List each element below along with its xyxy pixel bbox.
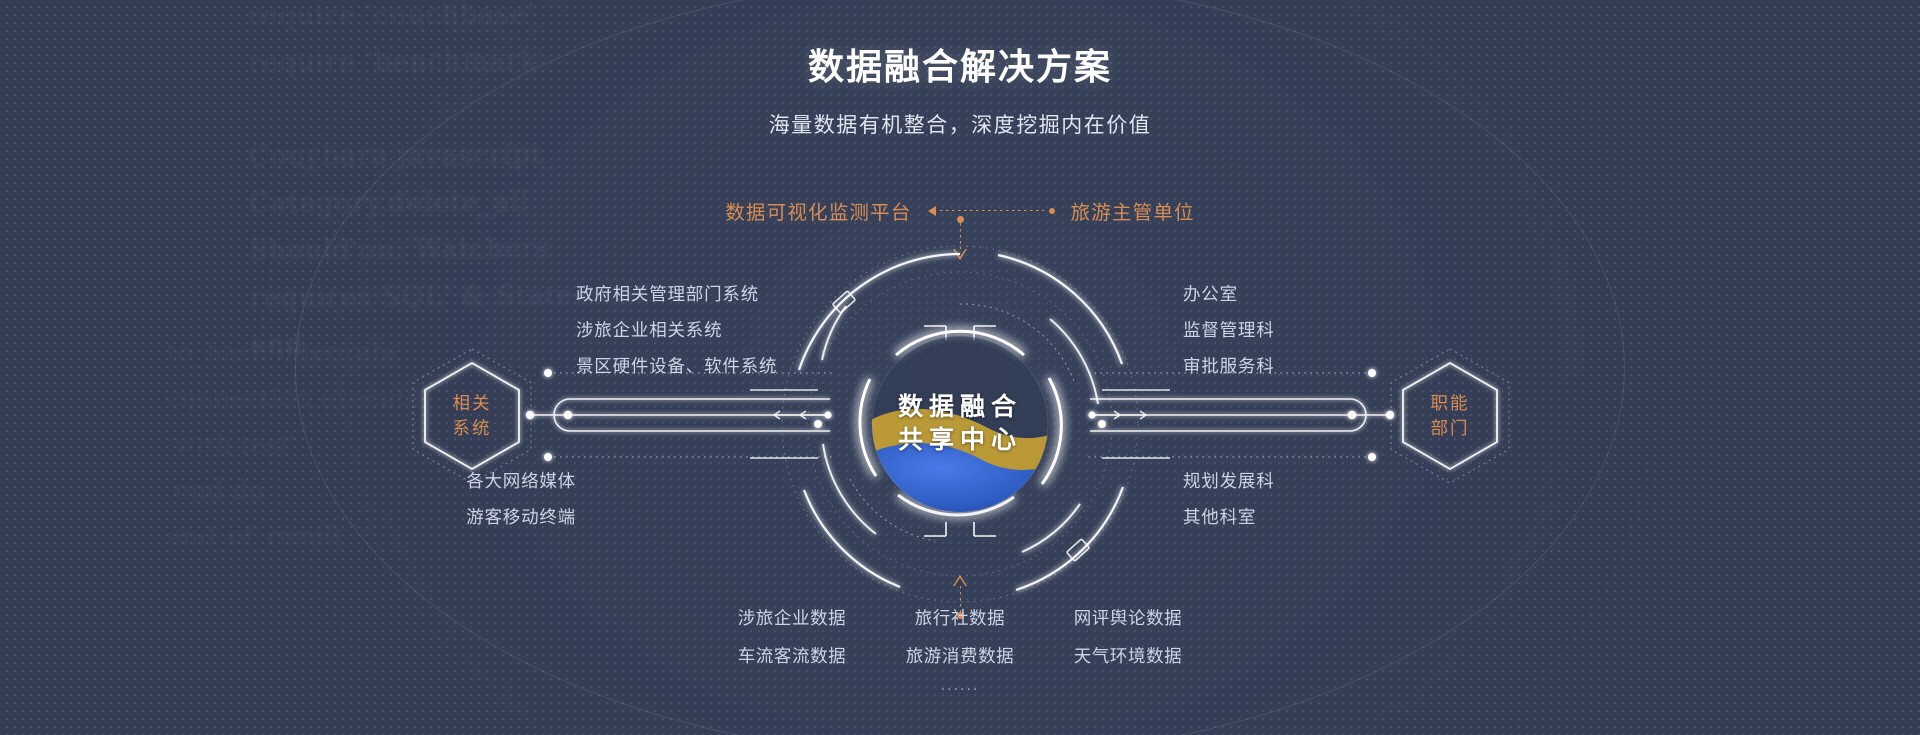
department-item: 其他科室 bbox=[1183, 499, 1275, 535]
right-top-department-list: 办公室监督管理科审批服务科 bbox=[1183, 276, 1275, 384]
headings: 数据融合解决方案 海量数据有机整合，深度挖掘内在价值 bbox=[0, 0, 1920, 139]
center-hub-graphic: 数据融合 共享中心 bbox=[750, 214, 1170, 634]
hexagon-right-text: 职能 部门 bbox=[1386, 346, 1514, 486]
center-line1: 数据融合 bbox=[898, 391, 1022, 424]
page-title: 数据融合解决方案 bbox=[0, 38, 1920, 90]
department-item: 审批服务科 bbox=[1183, 348, 1275, 384]
endpoint-dot-icon bbox=[1049, 208, 1055, 214]
bottom-ellipsis: ...... bbox=[941, 677, 980, 695]
data-category-item: 旅游消费数据 bbox=[886, 641, 1034, 671]
page-subtitle: 海量数据有机整合，深度挖掘内在价值 bbox=[0, 109, 1920, 139]
center-line2: 共享中心 bbox=[898, 424, 1022, 457]
hexagon-left-line1: 相关 bbox=[453, 391, 492, 416]
hexagon-left-line2: 系统 bbox=[453, 416, 492, 441]
center-hub-text: 数据融合 共享中心 bbox=[898, 391, 1022, 457]
source-system-item: 各大网络媒体 bbox=[466, 463, 576, 499]
hexagon-right-line2: 部门 bbox=[1431, 416, 1470, 441]
source-system-item: 游客移动终端 bbox=[466, 499, 576, 535]
data-category-item: 网评舆论数据 bbox=[1054, 603, 1202, 633]
right-bottom-department-list: 规划发展科其他科室 bbox=[1183, 463, 1275, 535]
hexagon-functional-departments[interactable]: 职能 部门 bbox=[1386, 346, 1514, 486]
department-item: 办公室 bbox=[1183, 276, 1275, 312]
data-category-item: 车流客流数据 bbox=[718, 641, 866, 671]
department-item: 规划发展科 bbox=[1183, 463, 1275, 499]
dotted-line bbox=[940, 210, 1044, 211]
data-category-item: 旅行社数据 bbox=[886, 603, 1034, 633]
left-bottom-source-list: 各大网络媒体游客移动终端 bbox=[576, 463, 686, 535]
data-category-item: 天气环境数据 bbox=[1054, 641, 1202, 671]
bottom-data-grid: 涉旅企业数据旅行社数据网评舆论数据车流客流数据旅游消费数据天气环境数据 bbox=[718, 603, 1202, 671]
hero-banner: require 'couchbase' require 'benchmark' … bbox=[0, 0, 1920, 735]
department-item: 监督管理科 bbox=[1183, 312, 1275, 348]
data-category-item: 涉旅企业数据 bbox=[718, 603, 866, 633]
hexagon-right-line1: 职能 bbox=[1431, 391, 1470, 416]
